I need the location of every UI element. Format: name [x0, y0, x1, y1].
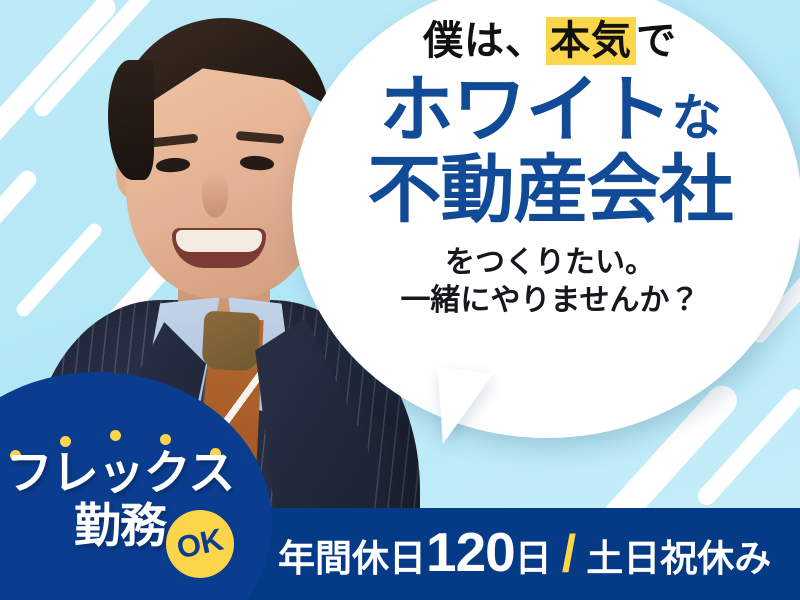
intro-before: 僕は、: [423, 19, 546, 63]
hair-sideburn: [108, 60, 154, 180]
headline-white: ホワイト: [380, 68, 672, 151]
headline-suffix: な: [672, 90, 721, 146]
mouth: [172, 228, 266, 268]
headline-line-1: ホワイトな: [330, 70, 770, 150]
holidays-unit: 日: [515, 528, 552, 582]
holidays-number: 120: [426, 528, 515, 578]
teeth: [176, 230, 262, 252]
speech-bubble-text: 僕は、本気で ホワイトな 不動産会社 をつくりたい。 一緒にやりませんか？: [330, 18, 770, 321]
intro-highlight: 本気: [546, 17, 636, 65]
badge-dot: [110, 430, 121, 441]
holidays-prefix: 年間休日: [278, 528, 426, 582]
subline-2: 一緒にやりませんか？: [330, 282, 770, 320]
diagonal-stripe: [694, 385, 800, 509]
intro-line: 僕は、本気で: [330, 18, 770, 64]
speech-bubble-tail: [427, 366, 493, 449]
flex-label-line-1: フレックス: [4, 448, 236, 497]
nose: [202, 172, 228, 218]
separator-slash: /: [562, 524, 576, 584]
recruitment-banner: 僕は、本気で ホワイトな 不動産会社 をつくりたい。 一緒にやりませんか？ フレ…: [0, 0, 800, 600]
headline-line-2: 不動産会社: [330, 150, 770, 230]
intro-after: で: [636, 19, 677, 63]
subline-1: をつくりたい。: [330, 244, 770, 282]
weekend-text: 土日祝休み: [586, 528, 771, 582]
necktie-knot: [202, 311, 261, 372]
badge-dot: [160, 434, 171, 445]
bottom-banner-text: 年間休日120日/土日祝休み: [278, 524, 771, 584]
